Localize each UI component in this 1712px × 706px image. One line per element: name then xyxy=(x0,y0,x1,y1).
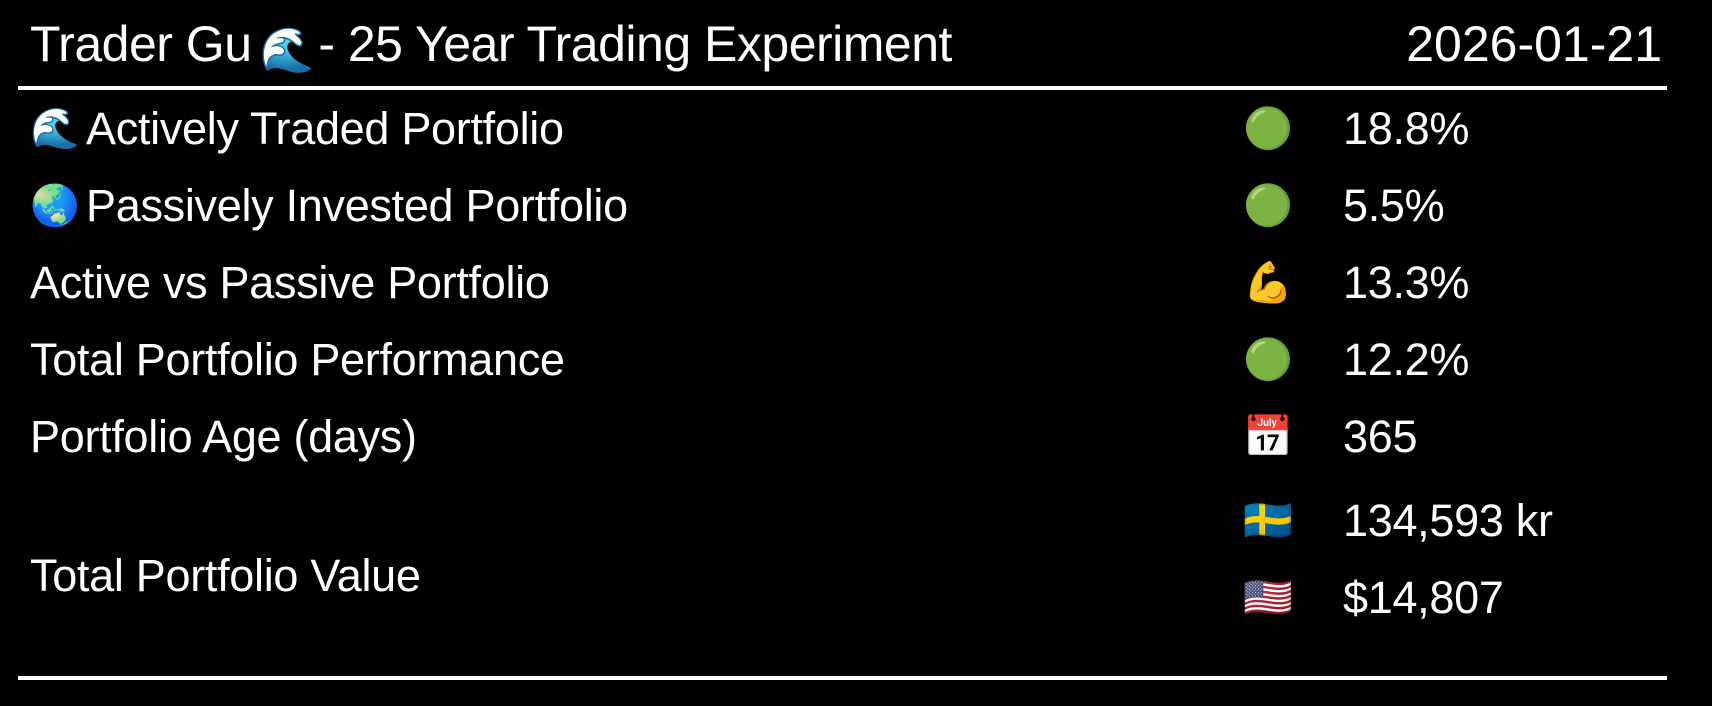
table-row: Active vs Passive Portfolio 💪 13.3% xyxy=(0,247,1712,319)
metric-value-cell: 134,593 kr xyxy=(1343,485,1553,557)
metrics-list: 🌊 Actively Traded Portfolio 🟢 18.8% 🌏 Pa… xyxy=(0,93,1712,671)
green-circle-icon: 🟢 xyxy=(1243,107,1293,151)
table-row: 🌏 Passively Invested Portfolio 🟢 5.5% xyxy=(0,170,1712,242)
metric-value-cell: 12.2% xyxy=(1343,324,1469,396)
metric-value-cell: 365 xyxy=(1343,401,1417,473)
globe-asia-icon: 🌏 xyxy=(30,186,86,226)
metric-value: 365 xyxy=(1343,412,1417,462)
flexed-biceps-icon: 💪 xyxy=(1243,261,1293,305)
summary-board: Trader Gu🌊- 25 Year Trading Experiment 2… xyxy=(0,0,1712,706)
metric-value: $14,807 xyxy=(1343,573,1504,623)
header-divider xyxy=(18,86,1667,90)
wave-icon: 🌊 xyxy=(260,26,315,75)
metric-label-cell: Total Portfolio Performance xyxy=(30,324,565,396)
metric-value-cell: $14,807 xyxy=(1343,562,1504,634)
page-title: Trader Gu🌊- 25 Year Trading Experiment xyxy=(30,16,952,73)
metric-label: Portfolio Age (days) xyxy=(30,412,417,462)
metric-value: 5.5% xyxy=(1343,181,1444,231)
wave-icon: 🌊 xyxy=(30,109,86,149)
metric-value: 12.2% xyxy=(1343,335,1469,385)
page-title-text: Trader Gu xyxy=(30,16,252,72)
status-icon-cell: 🇺🇸 xyxy=(1243,562,1313,634)
green-circle-icon: 🟢 xyxy=(1243,184,1293,228)
status-icon-cell: 🟢 xyxy=(1243,324,1313,396)
green-circle-icon: 🟢 xyxy=(1243,338,1293,382)
page-title-suffix: - 25 Year Trading Experiment xyxy=(318,16,952,72)
metric-label: Actively Traded Portfolio xyxy=(86,104,564,154)
status-icon-cell: 🟢 xyxy=(1243,93,1313,165)
status-icon-cell: 🟢 xyxy=(1243,170,1313,242)
metric-value: 13.3% xyxy=(1343,258,1469,308)
calendar-icon: 📅 xyxy=(1243,415,1293,459)
table-row: Total Portfolio Performance 🟢 12.2% xyxy=(0,324,1712,396)
table-row: Portfolio Age (days) 📅 365 xyxy=(0,401,1712,473)
header: Trader Gu🌊- 25 Year Trading Experiment 2… xyxy=(30,8,1670,80)
table-row: 🇸🇪 134,593 kr xyxy=(0,485,1712,557)
metric-value: 134,593 kr xyxy=(1343,496,1553,546)
metric-label: Active vs Passive Portfolio xyxy=(30,258,550,308)
metric-value-cell: 5.5% xyxy=(1343,170,1444,242)
status-icon-cell: 💪 xyxy=(1243,247,1313,319)
metric-label-cell: Portfolio Age (days) xyxy=(30,401,417,473)
status-icon-cell: 🇸🇪 xyxy=(1243,485,1313,557)
metric-label: Passively Invested Portfolio xyxy=(86,181,628,231)
metric-label: Total Portfolio Performance xyxy=(30,335,565,385)
table-row: 🇺🇸 $14,807 xyxy=(0,562,1712,634)
status-icon-cell: 📅 xyxy=(1243,401,1313,473)
flag-usa-icon: 🇺🇸 xyxy=(1243,576,1293,620)
metric-value-cell: 18.8% xyxy=(1343,93,1469,165)
report-date: 2026-01-21 xyxy=(1406,16,1662,72)
flag-sweden-icon: 🇸🇪 xyxy=(1243,499,1293,543)
footer-divider xyxy=(18,676,1667,680)
metric-label-cell: Active vs Passive Portfolio xyxy=(30,247,550,319)
metric-value-cell: 13.3% xyxy=(1343,247,1469,319)
table-row: 🌊 Actively Traded Portfolio 🟢 18.8% xyxy=(0,93,1712,165)
metric-label-cell: 🌏 Passively Invested Portfolio xyxy=(30,170,628,242)
metric-label-cell: 🌊 Actively Traded Portfolio xyxy=(30,93,564,165)
metric-value: 18.8% xyxy=(1343,104,1469,154)
